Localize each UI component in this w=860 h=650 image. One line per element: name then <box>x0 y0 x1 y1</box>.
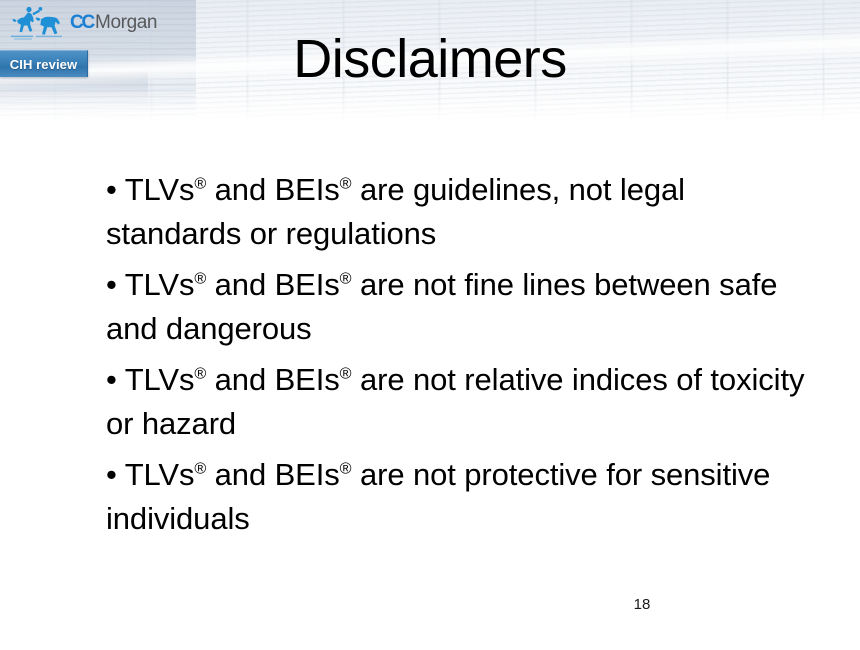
bullet-item: • TLVs® and BEIs® are not protective for… <box>106 453 808 541</box>
bullet-text-mid: and BEIs <box>206 457 340 492</box>
bullet-marker: • <box>106 267 117 302</box>
registered-mark: ® <box>340 460 352 478</box>
registered-mark: ® <box>194 365 206 383</box>
header-bottom-fade <box>0 88 860 132</box>
bullet-text-pre: TLVs <box>117 267 195 302</box>
registered-mark: ® <box>194 460 206 478</box>
bullet-text-pre: TLVs <box>117 457 195 492</box>
bullet-item: • TLVs® and BEIs® are guidelines, not le… <box>106 168 808 256</box>
registered-mark: ® <box>340 270 352 288</box>
bullet-text-mid: and BEIs <box>206 267 340 302</box>
bullet-marker: • <box>106 172 117 207</box>
slide-page-number: 18 <box>0 597 860 612</box>
slide-title: Disclaimers <box>0 30 860 88</box>
registered-mark: ® <box>194 270 206 288</box>
bullet-text-mid: and BEIs <box>206 362 340 397</box>
bullet-text-pre: TLVs <box>117 172 195 207</box>
registered-mark: ® <box>194 175 206 193</box>
bullet-marker: • <box>106 362 117 397</box>
bullet-item: • TLVs® and BEIs® are not relative indic… <box>106 358 808 446</box>
bullet-marker: • <box>106 457 117 492</box>
slide-body-content: • TLVs® and BEIs® are guidelines, not le… <box>106 168 808 541</box>
registered-mark: ® <box>340 175 352 193</box>
bullet-item: • TLVs® and BEIs® are not fine lines bet… <box>106 263 808 351</box>
ccmorgan-wordmark: CCMorgan <box>70 13 157 32</box>
presentation-slide: CCMorgan CIH review Disclaimers • TLVs® … <box>0 0 860 650</box>
registered-mark: ® <box>340 365 352 383</box>
bullet-text-pre: TLVs <box>117 362 195 397</box>
bullet-text-mid: and BEIs <box>206 172 340 207</box>
